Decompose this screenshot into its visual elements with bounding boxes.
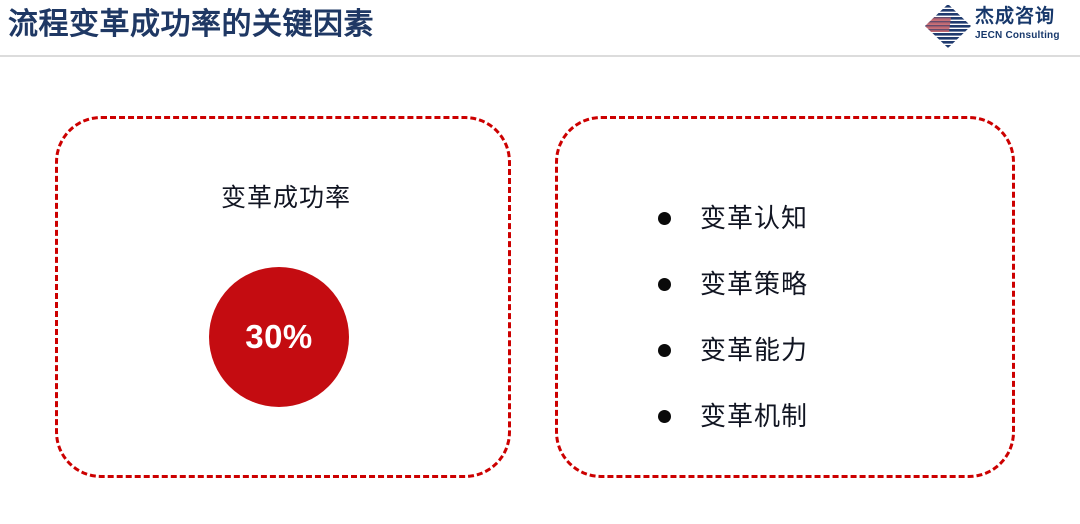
page-title: 流程变革成功率的关键因素 — [8, 4, 374, 46]
list-item: 变革能力 — [658, 317, 998, 383]
list-item: 变革机制 — [658, 383, 998, 449]
key-factors-list: 变革认知 变革策略 变革能力 变革机制 — [658, 185, 998, 449]
success-rate-label: 变革成功率 — [58, 181, 514, 215]
list-item-label: 变革能力 — [700, 333, 808, 367]
list-item-label: 变革机制 — [700, 399, 808, 433]
list-item: 变革策略 — [658, 251, 998, 317]
list-item: 变革认知 — [658, 185, 998, 251]
logo-name-cn: 杰成咨询 — [975, 5, 1075, 29]
logo-name-en: JECN Consulting — [975, 29, 1075, 42]
list-item-label: 变革认知 — [700, 201, 808, 235]
bullet-icon — [658, 410, 671, 423]
jecn-diamond-logo-icon — [925, 4, 971, 48]
bullet-icon — [658, 344, 671, 357]
success-rate-panel: 变革成功率 30% — [55, 116, 511, 478]
success-rate-circle: 30% — [209, 267, 349, 407]
header-divider — [0, 55, 1080, 57]
key-factors-panel: 变革认知 变革策略 变革能力 变革机制 — [555, 116, 1015, 478]
success-rate-value: 30% — [245, 319, 313, 355]
logo-wordmark: 杰成咨询 JECN Consulting — [975, 5, 1075, 47]
bullet-icon — [658, 212, 671, 225]
bullet-icon — [658, 278, 671, 291]
list-item-label: 变革策略 — [700, 267, 808, 301]
slide-canvas: 流程变革成功率的关键因素 — [0, 0, 1080, 524]
slide-header: 流程变革成功率的关键因素 — [0, 0, 1080, 56]
company-logo: 杰成咨询 JECN Consulting — [925, 3, 1075, 49]
